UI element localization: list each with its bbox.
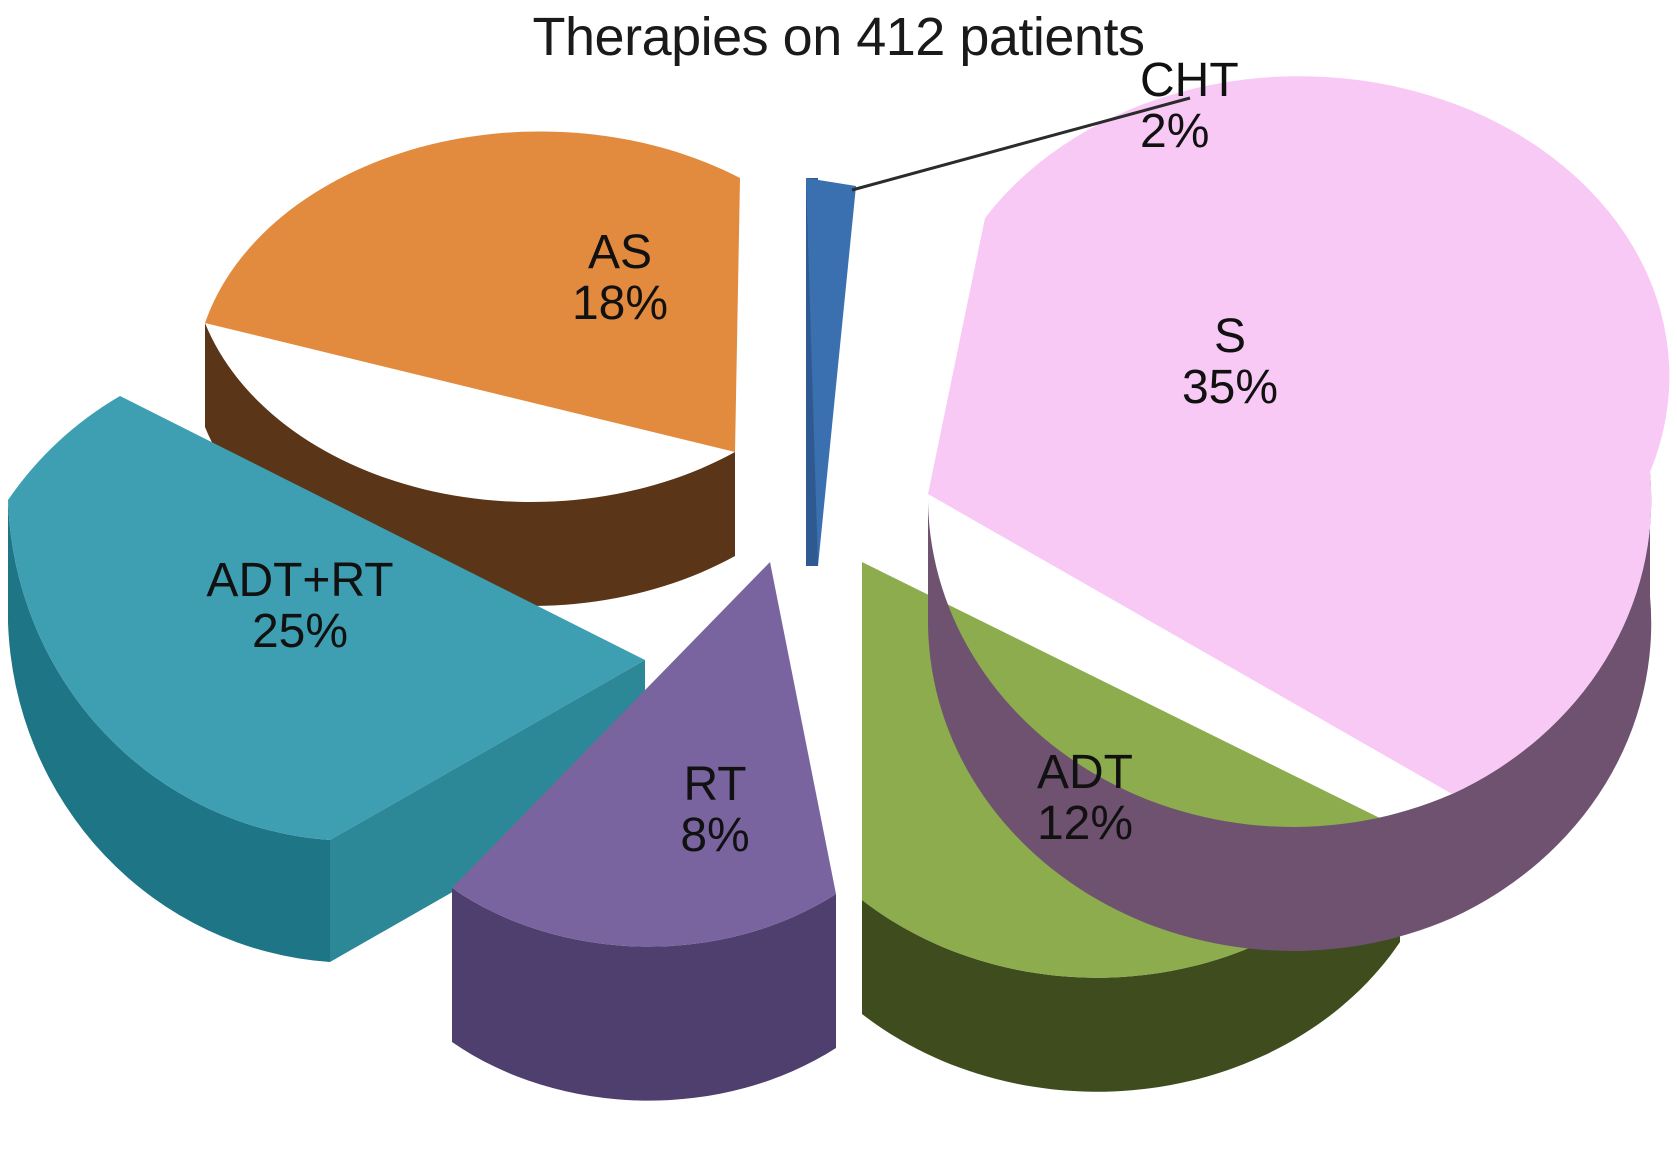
pie-chart-figure: Therapies on 412 patients bbox=[0, 0, 1677, 1162]
slice-label-cht-value: 2% bbox=[1140, 107, 1440, 158]
slice-label-s: S 35% bbox=[1100, 312, 1360, 414]
slice-label-adt: ADT 12% bbox=[940, 748, 1230, 850]
slice-label-adtrt: ADT+RT 25% bbox=[100, 556, 500, 658]
slice-label-adtrt-name: ADT+RT bbox=[100, 556, 500, 607]
slice-label-as-name: AS bbox=[490, 228, 750, 279]
slice-label-s-name: S bbox=[1100, 312, 1360, 363]
slice-label-as: AS 18% bbox=[490, 228, 750, 330]
slice-label-adtrt-value: 25% bbox=[100, 607, 500, 658]
slice-label-s-value: 35% bbox=[1100, 363, 1360, 414]
slice-label-cht: CHT 2% bbox=[1140, 56, 1440, 158]
slice-label-adt-value: 12% bbox=[940, 799, 1230, 850]
slice-label-rt-value: 8% bbox=[590, 811, 840, 862]
slice-label-as-value: 18% bbox=[490, 279, 750, 330]
slice-label-adt-name: ADT bbox=[940, 748, 1230, 799]
pie-slice-cht[interactable] bbox=[806, 178, 856, 566]
slice-label-cht-name: CHT bbox=[1140, 56, 1440, 107]
slice-label-rt: RT 8% bbox=[590, 760, 840, 862]
slice-label-rt-name: RT bbox=[590, 760, 840, 811]
